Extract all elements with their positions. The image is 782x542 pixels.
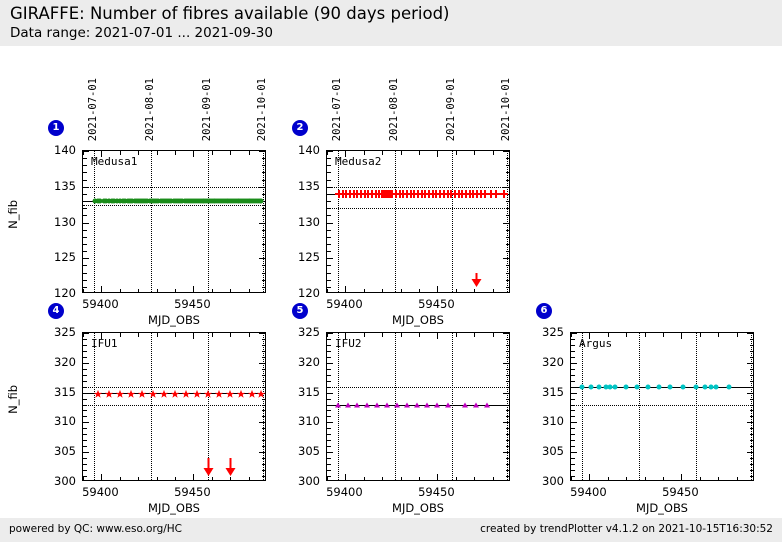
vertical-gridline (151, 333, 152, 480)
horizontal-gridline (83, 187, 265, 188)
panel-badge-5[interactable]: 5 (292, 303, 308, 319)
x-tick-mark (401, 289, 402, 293)
y-tick-mark (262, 410, 266, 411)
x-tick-mark (157, 289, 158, 293)
y-tick-mark (750, 446, 754, 447)
x-axis-title: MJD_OBS (392, 501, 444, 515)
x-tick-mark (230, 477, 231, 481)
y-tick-mark (506, 180, 510, 181)
y-tick-mark (327, 363, 333, 364)
vertical-gridline (94, 151, 95, 292)
x-tick-mark (212, 289, 213, 293)
date-tick-label: 2021-08-01 (388, 78, 400, 141)
data-point-marker (237, 383, 246, 402)
y-tick-mark (750, 470, 754, 471)
panel-badge-2[interactable]: 2 (292, 120, 308, 136)
vertical-gridline (151, 151, 152, 292)
date-tick-label: 2021-10-01 (256, 78, 268, 141)
x-tick-mark (364, 333, 365, 337)
x-tick-mark (193, 286, 194, 292)
vertical-gridline (639, 333, 640, 480)
y-axis-tick-label: 120 (284, 286, 320, 300)
y-tick-mark (571, 351, 575, 352)
y-tick-mark (83, 201, 87, 202)
y-tick-mark (327, 223, 333, 224)
y-tick-mark (506, 208, 510, 209)
data-point-marker (259, 199, 264, 204)
y-tick-mark (750, 440, 754, 441)
y-tick-mark (327, 172, 331, 173)
y-tick-mark (262, 172, 266, 173)
data-point-marker (364, 402, 370, 407)
y-tick-mark (571, 464, 575, 465)
data-point-marker (137, 383, 146, 402)
x-tick-mark (364, 289, 365, 293)
y-tick-mark (506, 440, 510, 441)
y-tick-mark (506, 158, 510, 159)
data-point-marker (354, 402, 360, 407)
x-tick-mark (83, 151, 84, 155)
data-point-marker (624, 384, 629, 389)
y-tick-mark (262, 416, 266, 417)
data-point-marker (646, 384, 651, 389)
vertical-gridline (338, 151, 339, 292)
y-tick-mark (750, 428, 754, 429)
x-tick-mark (493, 333, 494, 337)
vertical-gridline (452, 151, 453, 292)
y-tick-mark (503, 452, 509, 453)
y-tick-mark (83, 458, 87, 459)
y-tick-mark (327, 237, 331, 238)
x-tick-mark (327, 333, 328, 337)
x-tick-mark (83, 477, 84, 481)
x-tick-mark (83, 333, 84, 337)
x-tick-mark (626, 477, 627, 481)
out-of-range-arrow (203, 458, 214, 476)
y-tick-mark (262, 165, 266, 166)
data-point-marker (473, 402, 479, 407)
data-point-marker (434, 402, 440, 407)
y-tick-mark (506, 369, 510, 370)
y-tick-mark (83, 339, 87, 340)
x-tick-mark (456, 333, 457, 337)
x-tick-mark (120, 151, 121, 155)
x-tick-mark (645, 477, 646, 481)
y-tick-mark (259, 363, 265, 364)
panel-title-label: Argus (579, 337, 612, 350)
x-tick-mark (230, 333, 231, 337)
y-axis-tick-label: 135 (40, 179, 76, 193)
data-point-marker (668, 384, 673, 389)
y-tick-mark (262, 215, 266, 216)
x-tick-mark (681, 474, 682, 480)
y-tick-mark (327, 230, 331, 231)
y-axis-title: N_fib (6, 385, 20, 414)
y-tick-mark (83, 251, 87, 252)
y-tick-mark (571, 470, 575, 471)
y-tick-mark (506, 446, 510, 447)
y-tick-mark (259, 187, 265, 188)
y-tick-mark (327, 357, 331, 358)
y-tick-mark (750, 434, 754, 435)
y-tick-mark (571, 369, 575, 370)
x-tick-mark (718, 477, 719, 481)
x-tick-mark (249, 289, 250, 293)
data-point-marker (613, 384, 618, 389)
y-tick-mark (327, 351, 331, 352)
page-header: GIRAFFE: Number of fibres available (90 … (0, 0, 782, 46)
y-tick-mark (503, 393, 509, 394)
y-tick-mark (571, 446, 575, 447)
y-tick-mark (506, 434, 510, 435)
x-tick-mark (157, 477, 158, 481)
y-tick-mark (750, 339, 754, 340)
y-tick-mark (327, 273, 331, 274)
y-tick-mark (506, 387, 510, 388)
y-tick-mark (83, 223, 89, 224)
data-point-marker (727, 384, 732, 389)
out-of-range-arrow (225, 458, 236, 476)
data-point-marker (204, 383, 213, 402)
y-tick-mark (571, 410, 575, 411)
x-axis-tick-label: 59400 (326, 297, 363, 311)
horizontal-gridline (571, 405, 753, 406)
y-tick-mark (327, 375, 331, 376)
y-tick-mark (571, 339, 575, 340)
x-tick-mark (419, 289, 420, 293)
y-tick-mark (259, 452, 265, 453)
y-tick-mark (262, 405, 266, 406)
data-point-marker (500, 190, 508, 198)
x-tick-mark (382, 333, 383, 337)
x-tick-mark (437, 286, 438, 292)
y-tick-mark (259, 151, 265, 152)
y-tick-mark (262, 273, 266, 274)
y-tick-mark (83, 345, 87, 346)
y-tick-mark (506, 458, 510, 459)
date-tick-label: 2021-07-01 (87, 78, 99, 141)
date-tick-label: 2021-09-01 (445, 78, 457, 141)
data-point-marker (589, 384, 594, 389)
data-point-marker (681, 384, 686, 389)
y-tick-mark (506, 470, 510, 471)
data-point-marker (93, 383, 102, 402)
y-axis-tick-label: 310 (528, 414, 564, 428)
x-axis-title: MJD_OBS (148, 501, 200, 515)
y-tick-mark (506, 201, 510, 202)
data-point-marker (596, 384, 601, 389)
footer-credit-qc: powered by QC: www.eso.org/HC (9, 523, 182, 535)
y-axis-tick-label: 325 (528, 325, 564, 339)
y-tick-mark (262, 244, 266, 245)
x-axis-tick-label: 59400 (82, 485, 119, 499)
y-tick-mark (571, 422, 577, 423)
x-axis-tick-label: 59450 (174, 297, 211, 311)
y-tick-mark (327, 265, 331, 266)
y-tick-mark (750, 369, 754, 370)
y-axis-tick-label: 300 (284, 474, 320, 488)
y-tick-mark (750, 410, 754, 411)
y-tick-mark (506, 399, 510, 400)
y-tick-mark (327, 201, 331, 202)
y-tick-mark (83, 452, 89, 453)
x-tick-mark (230, 151, 231, 155)
x-axis-title: MJD_OBS (636, 501, 688, 515)
data-point-marker (182, 383, 191, 402)
y-tick-mark (83, 410, 87, 411)
y-tick-mark (83, 470, 87, 471)
y-tick-mark (506, 351, 510, 352)
y-tick-mark (571, 458, 575, 459)
panel-title-label: IFU2 (335, 337, 362, 350)
data-point-marker (335, 402, 341, 407)
data-point-marker (115, 383, 124, 402)
y-tick-mark (506, 237, 510, 238)
x-tick-mark (663, 477, 664, 481)
y-tick-mark (506, 287, 510, 288)
y-tick-mark (262, 458, 266, 459)
data-point-marker (148, 383, 157, 402)
y-tick-mark (327, 194, 331, 195)
y-axis-tick-label: 320 (284, 355, 320, 369)
y-tick-mark (83, 381, 87, 382)
y-tick-mark (506, 476, 510, 477)
y-axis-tick-label: 300 (40, 474, 76, 488)
page-subtitle: Data range: 2021-07-01 ... 2021-09-30 (10, 24, 782, 43)
x-tick-mark (571, 333, 572, 337)
x-tick-mark (101, 474, 102, 480)
y-tick-mark (750, 399, 754, 400)
y-axis-tick-label: 310 (40, 414, 76, 428)
y-tick-mark (750, 351, 754, 352)
x-tick-mark (419, 333, 420, 337)
y-axis-tick-label: 125 (284, 250, 320, 264)
x-tick-mark (212, 477, 213, 481)
y-tick-mark (83, 405, 87, 406)
x-tick-mark (456, 151, 457, 155)
x-tick-mark (138, 477, 139, 481)
x-tick-mark (700, 333, 701, 337)
data-point-marker (171, 383, 180, 402)
x-tick-mark (249, 151, 250, 155)
y-tick-mark (259, 258, 265, 259)
y-tick-mark (750, 387, 754, 388)
y-tick-mark (83, 369, 87, 370)
x-axis-tick-label: 59450 (418, 297, 455, 311)
y-tick-mark (262, 208, 266, 209)
y-tick-mark (503, 223, 509, 224)
x-tick-mark (249, 333, 250, 337)
y-tick-mark (571, 375, 575, 376)
y-axis-tick-label: 300 (528, 474, 564, 488)
panel-title-label: Medusa1 (91, 155, 137, 168)
x-tick-mark (382, 477, 383, 481)
x-axis-tick-label: 59400 (82, 297, 119, 311)
x-tick-mark (175, 477, 176, 481)
y-tick-mark (83, 158, 87, 159)
y-tick-mark (327, 446, 331, 447)
x-tick-mark (401, 477, 402, 481)
y-tick-mark (506, 381, 510, 382)
y-axis-tick-label: 130 (40, 215, 76, 229)
y-tick-mark (571, 345, 575, 346)
data-point-marker (226, 383, 235, 402)
y-tick-mark (83, 399, 87, 400)
y-tick-mark (262, 158, 266, 159)
x-tick-mark (157, 333, 158, 337)
x-tick-mark (175, 333, 176, 337)
x-tick-mark (120, 477, 121, 481)
date-tick-label: 2021-07-01 (331, 78, 343, 141)
vertical-gridline (582, 333, 583, 480)
x-tick-mark (663, 333, 664, 337)
x-tick-mark (681, 333, 682, 339)
x-tick-mark (456, 477, 457, 481)
y-tick-mark (83, 237, 87, 238)
vertical-gridline (452, 333, 453, 480)
y-tick-mark (83, 180, 87, 181)
y-tick-mark (327, 410, 331, 411)
y-tick-mark (327, 345, 331, 346)
y-tick-mark (503, 258, 509, 259)
data-point-marker (126, 383, 135, 402)
x-tick-mark (493, 477, 494, 481)
horizontal-gridline (327, 187, 509, 188)
y-tick-mark (83, 273, 87, 274)
x-tick-mark (401, 151, 402, 155)
y-tick-mark (571, 363, 577, 364)
x-axis-title: MJD_OBS (148, 313, 200, 327)
y-axis-tick-label: 325 (40, 325, 76, 339)
y-tick-mark (83, 428, 87, 429)
y-tick-mark (327, 381, 331, 382)
y-tick-mark (262, 434, 266, 435)
y-tick-mark (750, 357, 754, 358)
date-tick-label: 2021-09-01 (201, 78, 213, 141)
data-point-marker (703, 384, 708, 389)
x-tick-mark (493, 151, 494, 155)
data-point-marker (657, 384, 662, 389)
y-tick-mark (83, 422, 89, 423)
y-tick-mark (503, 187, 509, 188)
y-tick-mark (83, 440, 87, 441)
y-tick-mark (83, 363, 89, 364)
y-axis-tick-label: 325 (284, 325, 320, 339)
y-tick-mark (262, 375, 266, 376)
y-tick-mark (506, 280, 510, 281)
y-tick-mark (571, 428, 575, 429)
x-tick-mark (212, 333, 213, 337)
x-tick-mark (419, 477, 420, 481)
y-tick-mark (327, 387, 331, 388)
page-footer: powered by QC: www.eso.org/HC created by… (0, 518, 782, 542)
y-tick-mark (83, 258, 89, 259)
panel-badge-4[interactable]: 4 (48, 303, 64, 319)
y-tick-mark (747, 452, 753, 453)
y-tick-mark (506, 273, 510, 274)
x-tick-mark (364, 151, 365, 155)
y-tick-mark (262, 280, 266, 281)
panel-badge-6[interactable]: 6 (536, 303, 552, 319)
y-tick-mark (327, 458, 331, 459)
y-axis-tick-label: 140 (284, 143, 320, 157)
horizontal-gridline (327, 208, 509, 209)
y-tick-mark (506, 428, 510, 429)
y-tick-mark (503, 151, 509, 152)
y-tick-mark (506, 165, 510, 166)
y-tick-mark (327, 428, 331, 429)
x-axis-tick-label: 59400 (326, 485, 363, 499)
y-tick-mark (83, 230, 87, 231)
x-tick-mark (345, 286, 346, 292)
x-tick-mark (382, 289, 383, 293)
x-tick-mark (608, 333, 609, 337)
x-tick-mark (382, 151, 383, 155)
date-tick-label: 2021-10-01 (500, 78, 512, 141)
y-tick-mark (750, 476, 754, 477)
data-point-marker (159, 383, 168, 402)
panel-badge-1[interactable]: 1 (48, 120, 64, 136)
y-axis-tick-label: 320 (528, 355, 564, 369)
y-tick-mark (327, 452, 333, 453)
y-tick-mark (571, 416, 575, 417)
x-tick-mark (700, 477, 701, 481)
x-tick-mark (364, 477, 365, 481)
y-axis-tick-label: 135 (284, 179, 320, 193)
x-tick-mark (419, 151, 420, 155)
y-tick-mark (506, 215, 510, 216)
y-tick-mark (571, 452, 577, 453)
y-tick-mark (83, 446, 87, 447)
x-tick-mark (474, 333, 475, 337)
y-tick-mark (506, 405, 510, 406)
y-tick-mark (747, 422, 753, 423)
y-tick-mark (83, 375, 87, 376)
y-tick-mark (750, 375, 754, 376)
data-point-marker (257, 383, 266, 402)
y-tick-mark (262, 464, 266, 465)
y-tick-mark (83, 187, 89, 188)
y-tick-mark (506, 357, 510, 358)
y-tick-mark (262, 265, 266, 266)
y-tick-mark (83, 265, 87, 266)
data-point-marker (714, 384, 719, 389)
page-title: GIRAFFE: Number of fibres available (90 … (10, 3, 782, 24)
y-tick-mark (327, 251, 331, 252)
vertical-gridline (696, 333, 697, 480)
y-tick-mark (503, 333, 509, 334)
y-tick-mark (259, 223, 265, 224)
y-tick-mark (506, 410, 510, 411)
y-tick-mark (327, 470, 331, 471)
x-tick-mark (157, 151, 158, 155)
y-axis-title: N_fib (6, 200, 20, 229)
data-point-marker (374, 402, 380, 407)
y-tick-mark (327, 369, 331, 370)
y-tick-mark (83, 351, 87, 352)
y-tick-mark (327, 393, 333, 394)
date-tick-label: 2021-08-01 (144, 78, 156, 141)
out-of-range-arrow (471, 273, 482, 287)
x-tick-mark (193, 474, 194, 480)
x-tick-mark (175, 151, 176, 155)
y-tick-mark (571, 381, 575, 382)
y-tick-mark (327, 422, 333, 423)
y-tick-mark (506, 345, 510, 346)
y-tick-mark (262, 194, 266, 195)
x-tick-mark (456, 289, 457, 293)
data-point-marker (462, 402, 468, 407)
